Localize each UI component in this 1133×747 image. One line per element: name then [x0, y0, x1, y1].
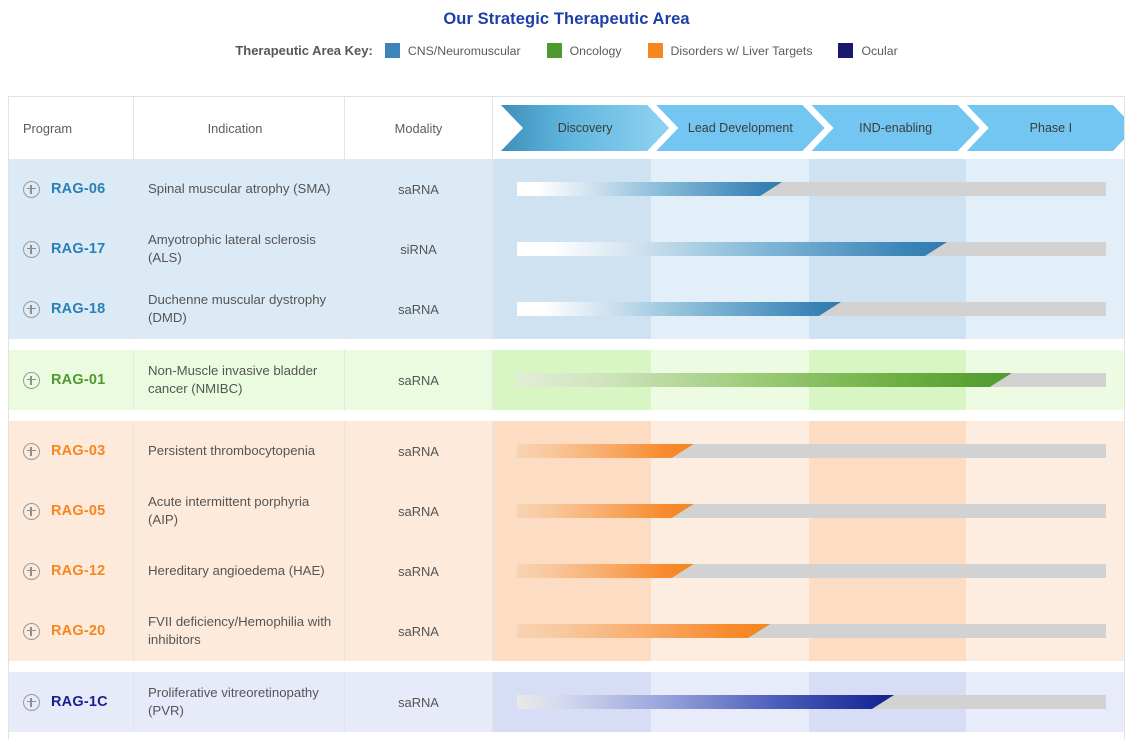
program-cell[interactable]: RAG-03 — [9, 421, 134, 481]
legend-item-label: CNS/Neuromuscular — [408, 44, 521, 58]
progress-fill — [517, 182, 782, 196]
progress-track — [517, 624, 1106, 638]
phase-header-lead-development[interactable]: Lead Development — [656, 105, 824, 151]
program-label: RAG-18 — [51, 301, 105, 317]
program-cell[interactable]: RAG-1C — [9, 672, 134, 732]
progress-cell — [493, 601, 1124, 661]
table-row[interactable]: RAG-03Persistent thrombocytopeniasaRNA — [9, 421, 1124, 481]
program-cell[interactable]: RAG-18 — [9, 279, 134, 339]
plus-circle-icon[interactable] — [23, 241, 40, 258]
group-separator — [9, 410, 1124, 421]
progress-fill — [517, 564, 694, 578]
indication-cell: Persistent thrombocytopenia — [134, 421, 345, 481]
modality-label: saRNA — [398, 373, 439, 388]
phase-header-ind-enabling[interactable]: IND-enabling — [812, 105, 980, 151]
progress-fill — [517, 695, 894, 709]
progress-fill — [517, 504, 694, 518]
column-header-program: Program — [9, 97, 134, 159]
progress-fill — [517, 444, 694, 458]
indication-label: Hereditary angioedema (HAE) — [148, 562, 325, 580]
indication-label: Persistent thrombocytopenia — [148, 442, 315, 460]
indication-label: Proliferative vitreoretinopathy (PVR) — [148, 684, 336, 720]
group-separator — [9, 339, 1124, 350]
program-label: RAG-01 — [51, 372, 105, 388]
program-cell[interactable]: RAG-06 — [9, 159, 134, 219]
program-label: RAG-17 — [51, 241, 105, 257]
phase-header-label: Discovery — [558, 121, 613, 135]
indication-label: Duchenne muscular dystrophy (DMD) — [148, 291, 336, 327]
pipeline-table: Program Indication Modality DiscoveryLea… — [8, 96, 1125, 739]
legend-item-label: Disorders w/ Liver Targets — [671, 44, 813, 58]
modality-label: saRNA — [398, 182, 439, 197]
program-label: RAG-03 — [51, 443, 105, 459]
progress-cell — [493, 541, 1124, 601]
indication-label: Non-Muscle invasive bladder cancer (NMIB… — [148, 362, 336, 398]
modality-cell: siRNA — [345, 219, 493, 279]
indication-cell: Non-Muscle invasive bladder cancer (NMIB… — [134, 350, 345, 410]
table-row[interactable]: RAG-20FVII deficiency/Hemophilia with in… — [9, 601, 1124, 661]
program-label: RAG-1C — [51, 694, 108, 710]
progress-cell — [493, 481, 1124, 541]
legend-item-1: Oncology — [547, 43, 622, 58]
progress-cell — [493, 159, 1124, 219]
indication-cell: Hereditary angioedema (HAE) — [134, 541, 345, 601]
table-row[interactable]: RAG-06Spinal muscular atrophy (SMA)saRNA — [9, 159, 1124, 219]
modality-label: siRNA — [400, 242, 437, 257]
progress-track — [517, 182, 1106, 196]
modality-label: saRNA — [398, 444, 439, 459]
program-label: RAG-05 — [51, 503, 105, 519]
modality-label: saRNA — [398, 504, 439, 519]
legend-item-2: Disorders w/ Liver Targets — [648, 43, 813, 58]
progress-track — [517, 373, 1106, 387]
indication-label: FVII deficiency/Hemophilia with inhibito… — [148, 613, 336, 649]
progress-track — [517, 504, 1106, 518]
progress-track — [517, 302, 1106, 316]
legend-item-label: Oncology — [570, 44, 622, 58]
phase-header-discovery[interactable]: Discovery — [501, 105, 669, 151]
progress-track — [517, 242, 1106, 256]
plus-circle-icon[interactable] — [23, 694, 40, 711]
program-cell[interactable]: RAG-01 — [9, 350, 134, 410]
modality-label: saRNA — [398, 564, 439, 579]
legend: Therapeutic Area Key: CNS/NeuromuscularO… — [0, 43, 1133, 58]
modality-cell: saRNA — [345, 421, 493, 481]
indication-cell: Duchenne muscular dystrophy (DMD) — [134, 279, 345, 339]
modality-cell: saRNA — [345, 159, 493, 219]
plus-circle-icon[interactable] — [23, 623, 40, 640]
progress-cell — [493, 421, 1124, 481]
progress-cell — [493, 350, 1124, 410]
legend-swatch-icon — [648, 43, 663, 58]
indication-cell: FVII deficiency/Hemophilia with inhibito… — [134, 601, 345, 661]
program-cell[interactable]: RAG-20 — [9, 601, 134, 661]
legend-item-label: Ocular — [861, 44, 897, 58]
progress-cell — [493, 672, 1124, 732]
phase-header-label: IND-enabling — [859, 121, 932, 135]
progress-fill — [517, 373, 1012, 387]
modality-cell: saRNA — [345, 541, 493, 601]
table-row[interactable]: RAG-18Duchenne muscular dystrophy (DMD)s… — [9, 279, 1124, 339]
modality-cell: saRNA — [345, 279, 493, 339]
modality-cell: saRNA — [345, 481, 493, 541]
legend-title: Therapeutic Area Key: — [235, 43, 373, 58]
phase-header-phase-i[interactable]: Phase I — [967, 105, 1125, 151]
table-row[interactable]: RAG-1CProliferative vitreoretinopathy (P… — [9, 672, 1124, 732]
table-row[interactable]: RAG-01Non-Muscle invasive bladder cancer… — [9, 350, 1124, 410]
progress-fill — [517, 242, 947, 256]
legend-swatch-icon — [838, 43, 853, 58]
legend-swatch-icon — [547, 43, 562, 58]
indication-label: Amyotrophic lateral sclerosis (ALS) — [148, 231, 336, 267]
indication-cell: Proliferative vitreoretinopathy (PVR) — [134, 672, 345, 732]
plus-circle-icon[interactable] — [23, 181, 40, 198]
progress-track — [517, 444, 1106, 458]
indication-label: Acute intermittent porphyria (AIP) — [148, 493, 336, 529]
column-header-indication: Indication — [134, 97, 345, 159]
program-cell[interactable]: RAG-17 — [9, 219, 134, 279]
plus-circle-icon[interactable] — [23, 443, 40, 460]
program-cell[interactable]: RAG-12 — [9, 541, 134, 601]
phase-header-container: DiscoveryLead DevelopmentIND-enablingPha… — [493, 97, 1124, 159]
table-row[interactable]: RAG-17Amyotrophic lateral sclerosis (ALS… — [9, 219, 1124, 279]
indication-cell: Spinal muscular atrophy (SMA) — [134, 159, 345, 219]
modality-label: saRNA — [398, 695, 439, 710]
table-row[interactable]: RAG-12Hereditary angioedema (HAE)saRNA — [9, 541, 1124, 601]
group-separator — [9, 661, 1124, 672]
progress-cell — [493, 279, 1124, 339]
indication-label: Spinal muscular atrophy (SMA) — [148, 180, 331, 198]
program-cell[interactable]: RAG-05 — [9, 481, 134, 541]
legend-item-3: Ocular — [838, 43, 897, 58]
table-row[interactable]: RAG-05Acute intermittent porphyria (AIP)… — [9, 481, 1124, 541]
modality-label: saRNA — [398, 302, 439, 317]
modality-cell: saRNA — [345, 672, 493, 732]
modality-label: saRNA — [398, 624, 439, 639]
progress-track — [517, 564, 1106, 578]
column-header-modality: Modality — [345, 97, 493, 159]
plus-circle-icon[interactable] — [23, 372, 40, 389]
progress-fill — [517, 624, 770, 638]
plus-circle-icon[interactable] — [23, 503, 40, 520]
legend-item-0: CNS/Neuromuscular — [385, 43, 521, 58]
table-header-row: Program Indication Modality DiscoveryLea… — [9, 97, 1124, 159]
indication-cell: Amyotrophic lateral sclerosis (ALS) — [134, 219, 345, 279]
progress-track — [517, 695, 1106, 709]
legend-swatch-icon — [385, 43, 400, 58]
modality-cell: saRNA — [345, 601, 493, 661]
page-title: Our Strategic Therapeutic Area — [0, 0, 1133, 29]
progress-fill — [517, 302, 841, 316]
program-label: RAG-06 — [51, 181, 105, 197]
indication-cell: Acute intermittent porphyria (AIP) — [134, 481, 345, 541]
plus-circle-icon[interactable] — [23, 301, 40, 318]
modality-cell: saRNA — [345, 350, 493, 410]
phase-header-label: Phase I — [1030, 121, 1072, 135]
progress-cell — [493, 219, 1124, 279]
plus-circle-icon[interactable] — [23, 563, 40, 580]
phase-header-label: Lead Development — [688, 121, 793, 135]
program-label: RAG-20 — [51, 623, 105, 639]
program-label: RAG-12 — [51, 563, 105, 579]
